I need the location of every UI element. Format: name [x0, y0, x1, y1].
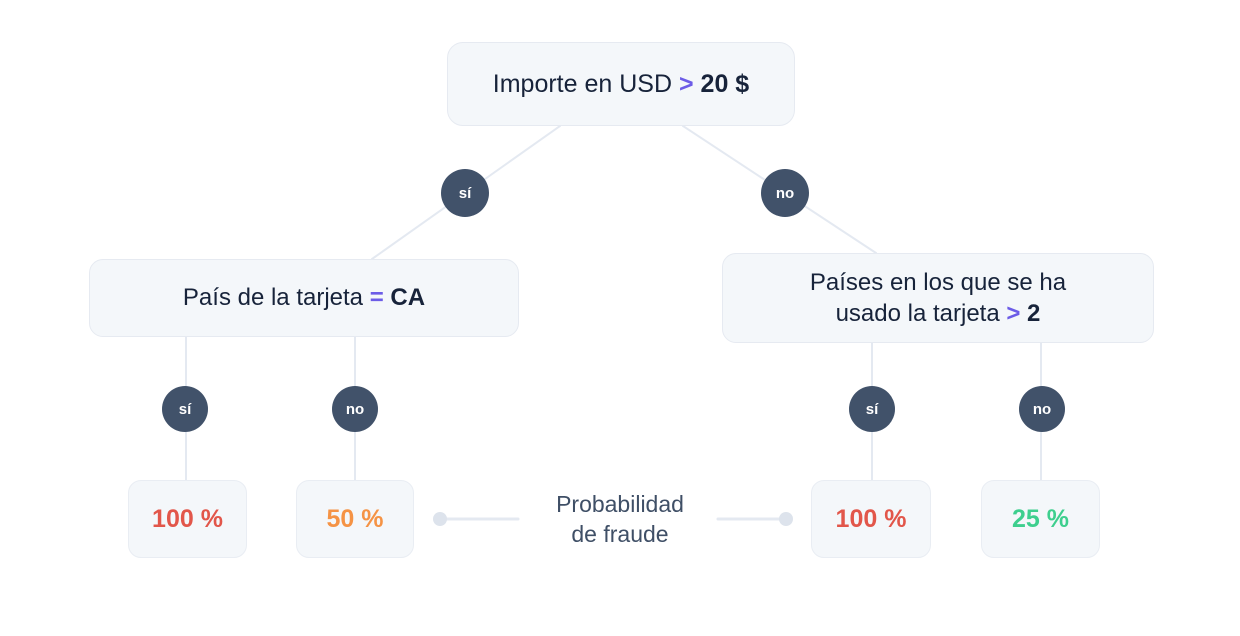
leaf-probability-4: 25 %	[981, 480, 1100, 558]
node-left-value: CA	[390, 284, 425, 311]
leaf-probability-3-value: 100 %	[836, 505, 907, 534]
caption-leader-dot-right	[779, 512, 793, 526]
node-right-label-line2: usado la tarjeta	[836, 300, 1000, 327]
leaf-probability-3: 100 %	[811, 480, 931, 558]
caption-line-1: Probabilidad	[556, 489, 684, 519]
node-root-text: Importe en USD > 20 $	[493, 68, 749, 101]
node-root-label: Importe en USD	[493, 70, 672, 98]
decision-tree-diagram: Importe en USD > 20 $ País de la tarjeta…	[0, 0, 1240, 636]
node-left-label: País de la tarjeta	[183, 284, 363, 311]
branch-badge-right-yes: sí	[849, 386, 895, 432]
node-right-label-line1: Países en los que se ha	[810, 269, 1066, 296]
leaf-probability-1-value: 100 %	[152, 505, 223, 534]
node-root-condition: Importe en USD > 20 $	[447, 42, 795, 126]
node-root-operator: >	[679, 70, 694, 98]
leaf-probability-2-value: 50 %	[327, 505, 384, 534]
node-right-text: Países en los que se hausado la tarjeta …	[810, 267, 1066, 329]
branch-badge-right-no: no	[1019, 386, 1065, 432]
caption-leader-dot-left	[433, 512, 447, 526]
node-left-operator: =	[370, 284, 384, 311]
leaf-probability-4-value: 25 %	[1012, 505, 1069, 534]
branch-badge-left-yes: sí	[162, 386, 208, 432]
node-countries-used-condition: Países en los que se hausado la tarjeta …	[722, 253, 1154, 343]
node-left-text: País de la tarjeta = CA	[183, 282, 425, 313]
node-right-operator: >	[1006, 300, 1020, 327]
caption-line-2: de fraude	[571, 519, 668, 549]
branch-badge-root-yes: sí	[441, 169, 489, 217]
branch-badge-left-no: no	[332, 386, 378, 432]
node-root-value: 20 $	[701, 70, 750, 98]
node-right-value: 2	[1027, 300, 1040, 327]
leaf-probability-1: 100 %	[128, 480, 247, 558]
node-card-country-condition: País de la tarjeta = CA	[89, 259, 519, 337]
branch-badge-root-no: no	[761, 169, 809, 217]
caption-fraud-probability: Probabilidad de fraude	[520, 480, 720, 558]
leaf-probability-2: 50 %	[296, 480, 414, 558]
